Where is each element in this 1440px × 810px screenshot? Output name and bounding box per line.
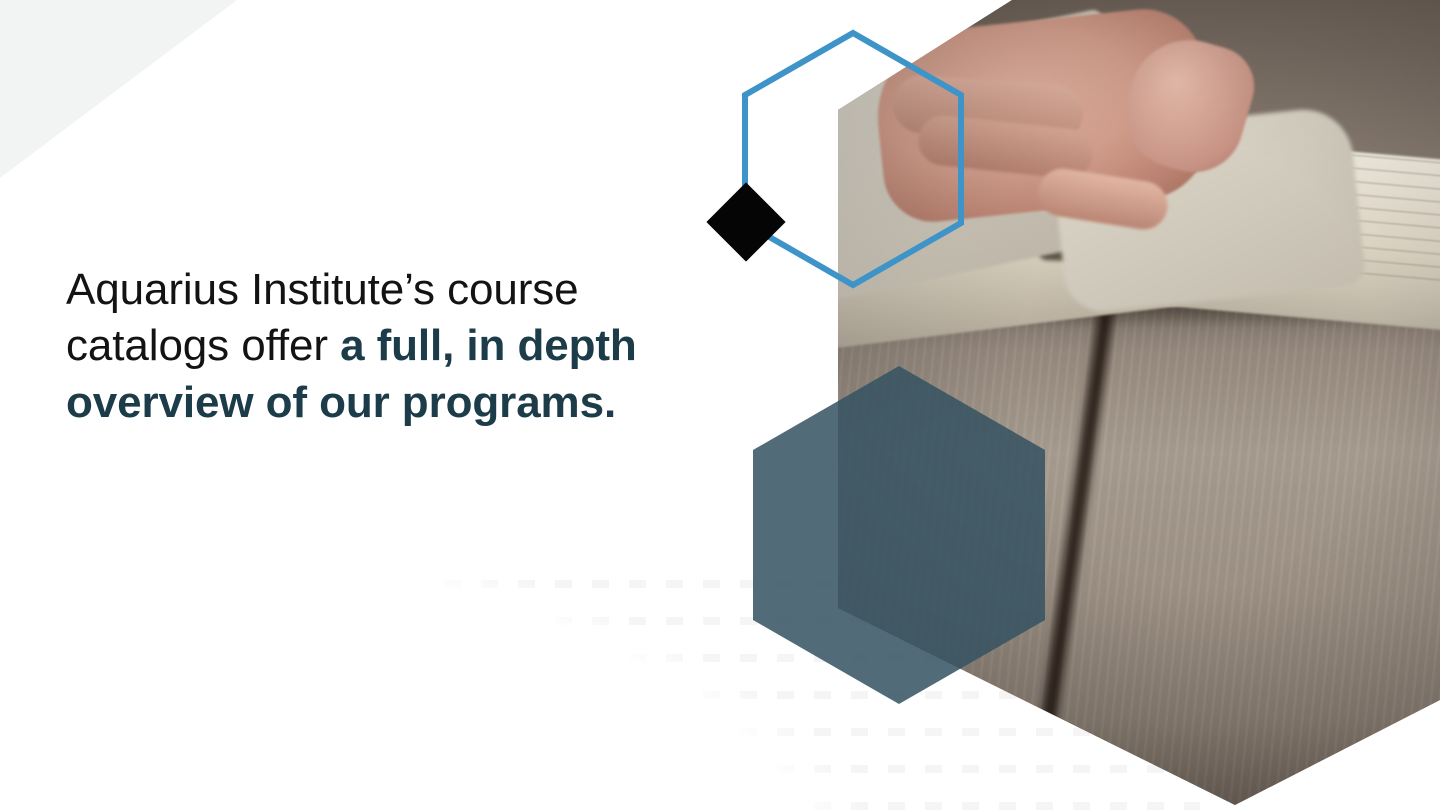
page-title: Aquarius Institute’s course catalogs off…: [66, 262, 706, 431]
blue-outline-hexagon: [740, 28, 966, 290]
slide-canvas: Aquarius Institute’s course catalogs off…: [0, 0, 1440, 810]
hexagon-filled-icon: [753, 366, 1045, 704]
teal-filled-hexagon: [753, 366, 1045, 704]
corner-wedge-shape: [0, 0, 260, 190]
hexagon-outline-icon: [740, 28, 966, 290]
